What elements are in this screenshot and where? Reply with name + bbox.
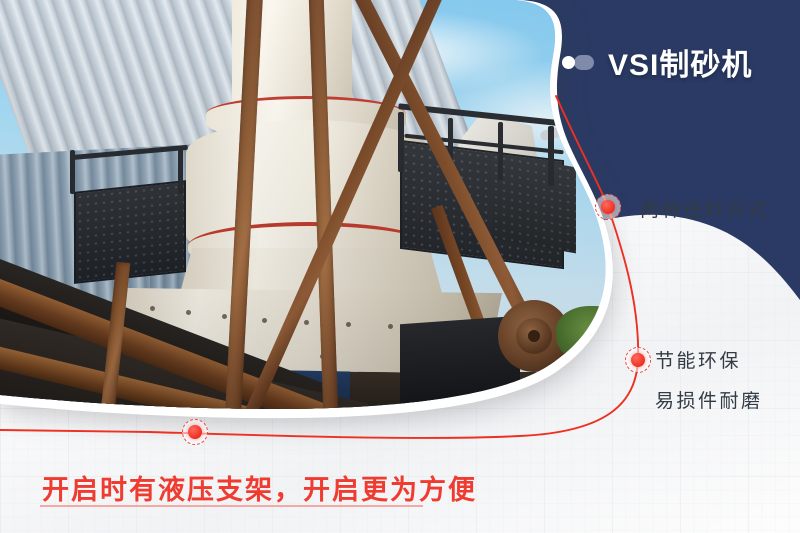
feature-label-wear: 易损件耐磨: [655, 386, 763, 413]
marker-core-icon: [601, 200, 615, 214]
marker-core-icon: [631, 353, 645, 367]
photo-motor-center: [528, 330, 540, 342]
bullet-dot-icon: [560, 55, 594, 70]
red-dot-marker-caption: [182, 419, 208, 445]
feature-label-eco: 节能环保: [655, 346, 741, 373]
header-title-row: VSI制砂机: [560, 40, 752, 84]
red-dot-marker-feeding: [595, 194, 621, 220]
page-title: VSI制砂机: [608, 40, 752, 84]
feature-label-feeding: 两种进料方式: [640, 195, 769, 222]
promo-banner: VSI制砂机 两种进料方式 节能环保 易损件耐磨 开启时有液压支架，开启更为方便: [0, 0, 800, 533]
red-dot-marker-eco: [625, 347, 651, 373]
marker-core-icon: [188, 425, 202, 439]
bottom-caption: 开启时有液压支架，开启更为方便: [42, 468, 477, 507]
photo-railing-panel: [74, 180, 186, 284]
photo-railing-panel: [492, 153, 576, 254]
